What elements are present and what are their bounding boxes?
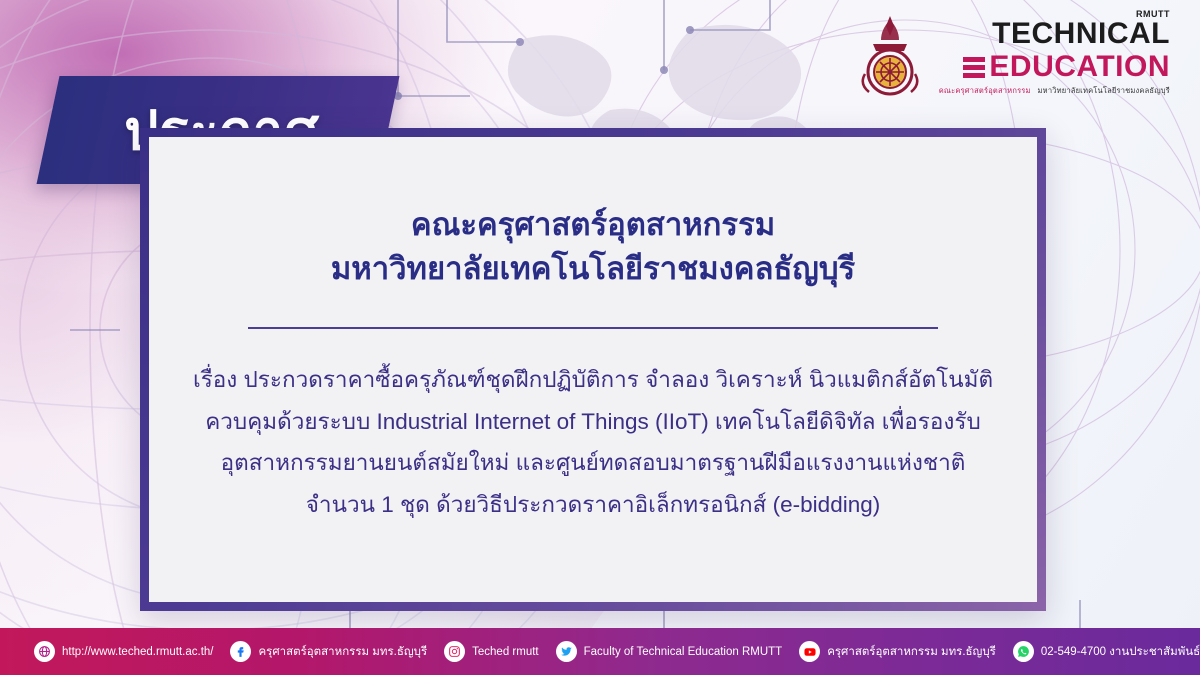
twitter-icon [556, 641, 577, 662]
logo-subtitle: คณะครุศาสตร์อุตสาหกรรม มหาวิทยาลัยเทคโนโ… [939, 87, 1170, 95]
card-title-line-1: คณะครุศาสตร์อุตสาหกรรม [331, 203, 855, 247]
card-body-line-4: จำนวน 1 ชุด ด้วยวิธีประกวดราคาอิเล็กทรอน… [193, 484, 993, 526]
announcement-card-inner: คณะครุศาสตร์อุตสาหกรรม มหาวิทยาลัยเทคโนโ… [149, 137, 1037, 602]
equals-bars-icon [963, 57, 985, 78]
logo-education-word: EDUCATION [989, 52, 1170, 82]
footer-item-website[interactable]: http://www.teched.rmutt.ac.th/ [34, 641, 213, 662]
footer-label-twitter: Faculty of Technical Education RMUTT [584, 646, 783, 658]
card-title-line-2: มหาวิทยาลัยเทคโนโลยีราชมงคลธัญบุรี [331, 247, 855, 291]
card-title-block: คณะครุศาสตร์อุตสาหกรรม มหาวิทยาลัยเทคโนโ… [331, 203, 855, 291]
card-body-line-3: อุตสาหกรรมยานยนต์สมัยใหม่ และศูนย์ทดสอบม… [193, 442, 993, 484]
youtube-icon [799, 641, 820, 662]
card-body-line-1: เรื่อง ประกวดราคาซื้อครุภัณฑ์ชุดฝึกปฏิบั… [193, 359, 993, 401]
footer-item-facebook[interactable]: ครุศาสตร์อุตสาหกรรม มทร.ธัญบุรี [230, 641, 427, 662]
logo-line-technical: TECHNICAL RMUTT [992, 19, 1170, 49]
footer-item-youtube[interactable]: ครุศาสตร์อุตสาหกรรม มทร.ธัญบุรี [799, 641, 996, 662]
footer-label-website: http://www.teched.rmutt.ac.th/ [62, 646, 213, 658]
globe-icon [34, 641, 55, 662]
logo-subtitle-university: มหาวิทยาลัยเทคโนโลยีราชมงคลธัญบุรี [1038, 86, 1170, 95]
footer-label-instagram: Teched rmutt [472, 646, 538, 658]
footer-label-youtube: ครุศาสตร์อุตสาหกรรม มทร.ธัญบุรี [827, 643, 996, 661]
logo-text-block: TECHNICAL RMUTT EDUCATION คณะครุศาสตร์อุ… [939, 19, 1170, 95]
faculty-logo: TECHNICAL RMUTT EDUCATION คณะครุศาสตร์อุ… [853, 14, 1170, 100]
rmutt-emblem-icon [853, 14, 927, 100]
instagram-icon [444, 641, 465, 662]
footer-item-phone[interactable]: 02-549-4700 งานประชาสัมพันธ์ [1013, 641, 1200, 662]
announcement-card: คณะครุศาสตร์อุตสาหกรรม มหาวิทยาลัยเทคโนโ… [140, 128, 1046, 611]
card-body-block: เรื่อง ประกวดราคาซื้อครุภัณฑ์ชุดฝึกปฏิบั… [193, 359, 993, 526]
phone-icon [1013, 641, 1034, 662]
logo-rmutt-superscript: RMUTT [1136, 10, 1170, 19]
footer-bar: http://www.teched.rmutt.ac.th/ ครุศาสตร์… [0, 628, 1200, 675]
facebook-icon [230, 641, 251, 662]
logo-line-education: EDUCATION [963, 52, 1170, 82]
card-divider [248, 327, 938, 329]
announcement-poster: ประกาศ คณะครุศาสตร์อุตสาหกรรม มหาวิทยาลั… [0, 0, 1200, 675]
logo-subtitle-faculty: คณะครุศาสตร์อุตสาหกรรม [939, 86, 1031, 95]
footer-label-phone: 02-549-4700 งานประชาสัมพันธ์ [1041, 643, 1200, 661]
footer-item-twitter[interactable]: Faculty of Technical Education RMUTT [556, 641, 783, 662]
footer-label-facebook: ครุศาสตร์อุตสาหกรรม มทร.ธัญบุรี [258, 643, 427, 661]
card-body-line-2: ควบคุมด้วยระบบ Industrial Internet of Th… [193, 401, 993, 443]
logo-technical-word: TECHNICAL [992, 17, 1170, 50]
footer-item-instagram[interactable]: Teched rmutt [444, 641, 538, 662]
